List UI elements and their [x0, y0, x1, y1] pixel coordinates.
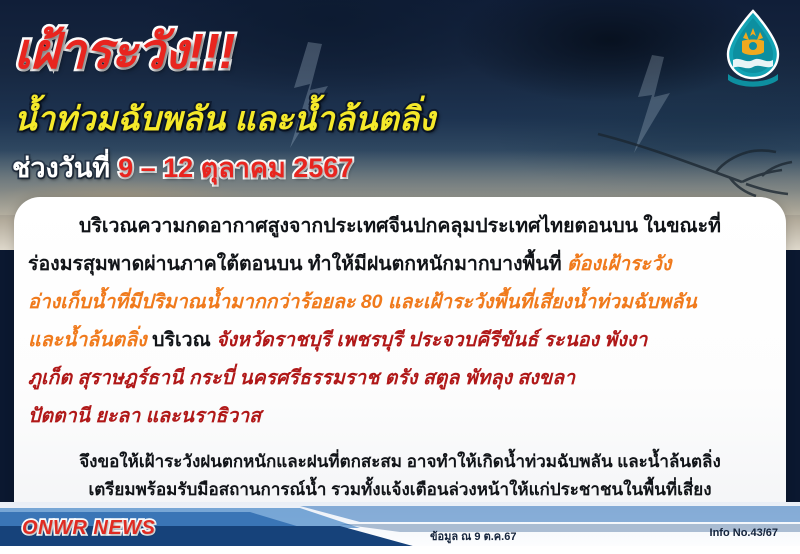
body-line-6-provinces: ปัตตานี ยะลา และนราธิวาส	[28, 405, 261, 427]
poster-header: เฝ้าระวัง!!! น้ำท่วมฉับพลัน และน้ำล้นตลิ…	[0, 0, 800, 200]
flood-warning-poster: เฝ้าระวัง!!! น้ำท่วมฉับพลัน และน้ำล้นตลิ…	[0, 0, 800, 554]
body-line-2-warning: ต้องเฝ้าระวัง	[567, 253, 671, 275]
body-line-4-warning: และน้ำล้นตลิ่ง	[28, 329, 147, 351]
body-line-3: อ่างเก็บน้ำที่มีปริมาณน้ำมากกว่าร้อยละ 8…	[28, 283, 772, 321]
announcement-closing: จึงขอให้เฝ้าระวังฝนตกหนักและฝนที่ตกสะสม …	[14, 448, 786, 504]
body-line-6: ปัตตานี ยะลา และนราธิวาส	[28, 397, 772, 435]
body-line-1: บริเวณความกดอากาศสูงจากประเทศจีนปกคลุมปร…	[28, 207, 772, 245]
body-line-4-provinces: จังหวัดราชบุรี เพชรบุรี ประจวบคีรีขันธ์ …	[216, 329, 647, 351]
announcement-body: บริเวณความกดอากาศสูงจากประเทศจีนปกคลุมปร…	[14, 207, 786, 435]
alert-date-range: ช่วงวันที่9 – 12 ตุลาคม 2567	[12, 146, 353, 189]
poster-footer: ONWR NEWS ข้อมูล ณ 9 ต.ค.67 Info No.43/6…	[0, 502, 800, 554]
announcement-card: บริเวณความกดอากาศสูงจากประเทศจีนปกคลุมปร…	[14, 197, 786, 510]
body-line-4-dark: บริเวณ	[152, 329, 211, 351]
closing-line-2: เตรียมพร้อมรับมือสถานการณ์น้ำ รวมทั้งแจ้…	[14, 476, 786, 504]
footer-info-number: Info No.43/67	[710, 527, 778, 539]
date-range-label: ช่วงวันที่	[12, 153, 110, 183]
body-line-2: ร่องมรสุมพาดผ่านภาคใต้ตอนบน ทำให้มีฝนตกห…	[28, 245, 772, 283]
date-range-value: 9 – 12 ตุลาคม 2567	[118, 153, 353, 183]
onwr-news-badge: ONWR NEWS	[22, 517, 155, 540]
body-line-5: ภูเก็ต สุราษฎร์ธานี กระบี่ นครศรีธรรมราช…	[28, 359, 772, 397]
body-line-2-dark: ร่องมรสุมพาดผ่านภาคใต้ตอนบน ทำให้มีฝนตกห…	[28, 253, 562, 275]
body-line-4: และน้ำล้นตลิ่ง บริเวณ จังหวัดราชบุรี เพช…	[28, 321, 772, 359]
alert-headline: เฝ้าระวัง!!!	[14, 12, 235, 90]
footer-data-date: ข้อมูล ณ 9 ต.ค.67	[430, 527, 516, 545]
alert-subheadline: น้ำท่วมฉับพลัน และน้ำล้นตลิ่ง	[14, 92, 435, 145]
body-line-3-warning: อ่างเก็บน้ำที่มีปริมาณน้ำมากกว่าร้อยละ 8…	[28, 291, 697, 313]
body-line-5-provinces: ภูเก็ต สุราษฎร์ธานี กระบี่ นครศรีธรรมราช…	[28, 367, 575, 389]
closing-line-1: จึงขอให้เฝ้าระวังฝนตกหนักและฝนที่ตกสะสม …	[14, 448, 786, 476]
